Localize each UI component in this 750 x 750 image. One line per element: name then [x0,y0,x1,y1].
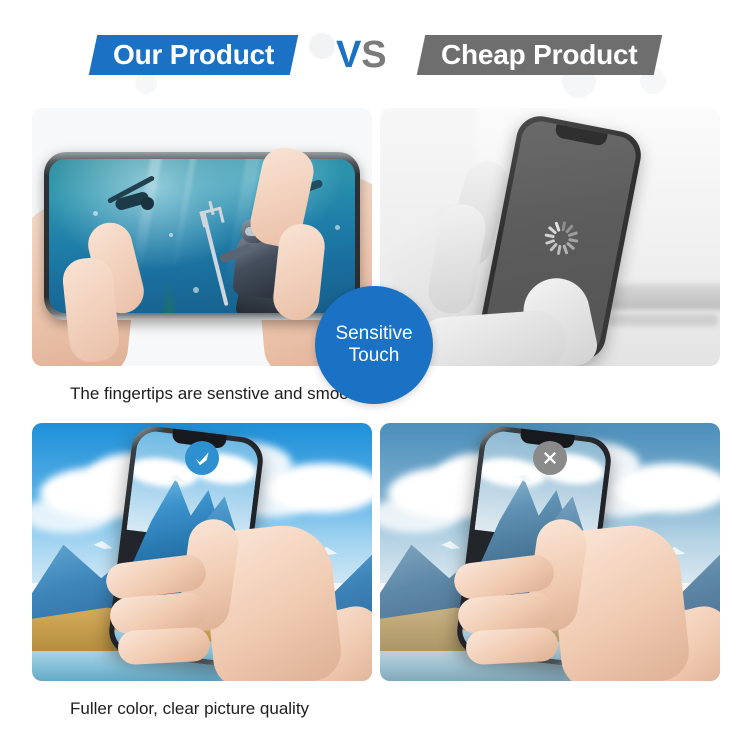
diver-silhouette [97,183,167,223]
caption-good-high-resolution: Fuller color, clear picture quality [70,699,410,719]
cheap-product-label: Cheap Product [441,39,638,71]
feature-label-line2: Touch [349,345,400,367]
vs-letter-s: S [361,34,386,76]
diver-head [141,197,154,210]
our-product-label: Our Product [113,39,274,71]
vs-label: VS [336,36,387,74]
phone-notch [554,124,608,147]
vs-letter-v: V [336,34,361,76]
our-product-banner: Our Product [89,35,299,75]
cheap-product-banner: Cheap Product [416,35,661,75]
comparison-row-high-resolution: Fuller color, clear picture quality [0,415,750,730]
bubble [169,233,173,237]
cross-badge-bad-sensitive [533,441,567,475]
feature-badge-sensitive-touch: Sensitive Touch [315,286,433,404]
bad-cell-sensitive-touch: The fingertips are dull, terrible touch [380,108,720,366]
scene-slow-phone [380,108,720,366]
hand-finger [117,627,211,666]
trident-head [199,207,224,228]
check-icon [192,448,212,468]
loading-spinner-icon [541,218,581,258]
comparison-header: Our Product VS Cheap Product [0,22,750,88]
comparison-row-sensitive-touch: The fingertips are senstive and smooth [0,100,750,415]
room-shelf [608,314,718,326]
bubble [193,287,199,293]
light-shaft [171,159,198,271]
bubble [93,211,98,216]
photo-loading-phone [380,108,720,366]
feature-label-line1: Sensitive [335,323,412,345]
seaweed [161,281,177,313]
close-icon [541,449,559,467]
comparison-grid: The fingertips are senstive and smooth [0,100,750,730]
bubble [335,225,340,230]
check-badge-good-sensitive [185,441,219,475]
hand-finger [465,627,559,666]
hand-lower-gray [414,309,568,366]
